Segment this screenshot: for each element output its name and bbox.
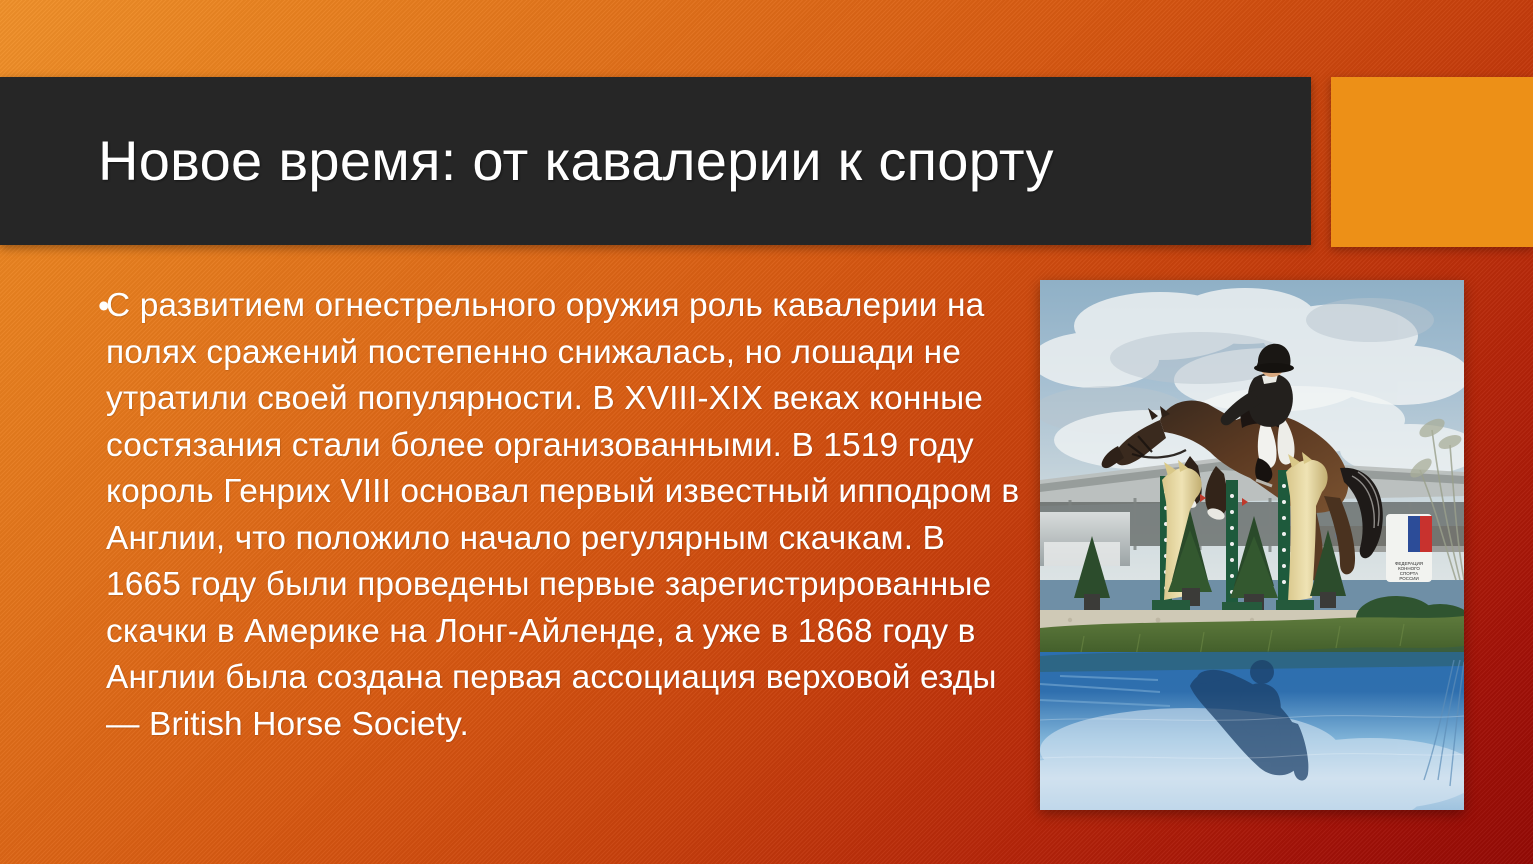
bullet-paragraph: С развитием огнестрельного оружия роль к… [106,283,1027,748]
title-band: Новое время: от кавалерии к спорту [0,77,1311,245]
bullet-icon: • [82,283,106,329]
svg-text:РОССИИ: РОССИИ [1399,576,1418,581]
content-body: • С развитием огнестрельного оружия роль… [82,283,1027,748]
page-title: Новое время: от кавалерии к спорту [98,77,1054,245]
slide-photo: ФЕДЕРАЦИЯ КОННОГО СПОРТА РОССИИ [1040,280,1464,810]
accent-rectangle [1331,77,1533,247]
presentation-slide: Новое время: от кавалерии к спорту • С р… [0,0,1533,864]
show-jumping-photo-illustration: ФЕДЕРАЦИЯ КОННОГО СПОРТА РОССИИ [1040,280,1464,810]
list-item: • С развитием огнестрельного оружия роль… [82,283,1027,748]
